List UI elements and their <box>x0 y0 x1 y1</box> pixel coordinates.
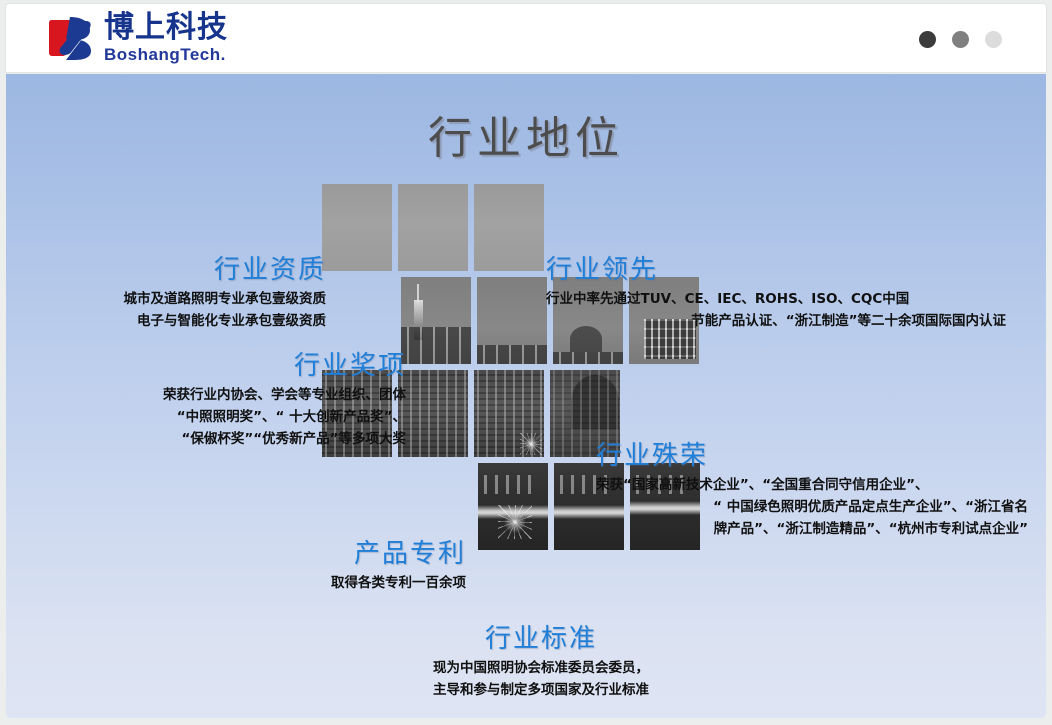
block-heading-patent: 产品专利 <box>136 540 466 570</box>
block-product-patent: 产品专利 取得各类专利一百余项 <box>136 540 466 595</box>
block-body-patent: 取得各类专利一百余项 <box>136 573 466 595</box>
photo-tile-highrise <box>398 370 468 457</box>
dot-medium-icon[interactable] <box>952 31 969 48</box>
photo-tile-highrise <box>474 370 544 457</box>
block-industry-standard: 行业标准 现为中国照明协会标准委员会委员， 主导和参与制定多项国家及行业标准 <box>366 625 716 702</box>
body-line: “保俶杯奖”“优秀新产品”等多项大奖 <box>76 429 406 451</box>
lit-signage <box>484 475 536 494</box>
company-logo[interactable]: 博上科技 BoshangTech. <box>46 13 228 63</box>
block-heading-awards: 行业奖项 <box>76 352 406 382</box>
block-heading-qualification: 行业资质 <box>26 256 326 286</box>
body-line: 现为中国照明协会标准委员会委员， <box>366 658 716 680</box>
block-industry-qualification: 行业资质 城市及道路照明专业承包壹级资质 电子与智能化专业承包壹级资质 <box>26 256 326 333</box>
boshang-b-mark-icon <box>46 15 98 61</box>
body-line: 主导和参与制定多项国家及行业标准 <box>366 680 716 702</box>
body-line: “中照照明奖”、“ 十大创新产品奖”、 <box>76 407 406 429</box>
body-line: 荣获“国家高新技术企业”、“全国重合同守信用企业”、 <box>596 475 1028 497</box>
block-body-standard: 现为中国照明协会标准委员会委员， 主导和参与制定多项国家及行业标准 <box>366 658 716 702</box>
photo-tile-skyline <box>477 277 547 364</box>
photo-tile-sky <box>398 184 468 271</box>
photo-tile-night-street-burst <box>478 463 548 550</box>
photo-tile-skyline-tower <box>401 277 471 364</box>
logo-english-name: BoshangTech. <box>104 46 228 63</box>
block-body-qualification: 城市及道路照明专业承包壹级资质 电子与智能化专业承包壹级资质 <box>26 289 326 333</box>
body-line: 取得各类专利一百余项 <box>136 573 466 595</box>
window-control-dots <box>919 31 1002 48</box>
dot-light-icon[interactable] <box>985 31 1002 48</box>
body-line: 节能产品认证、“浙江制造”等二十余项国际国内认证 <box>546 311 1006 333</box>
slide-header-bar: 博上科技 BoshangTech. <box>6 4 1046 72</box>
lower-buildings <box>477 345 547 364</box>
building-windows <box>398 370 468 457</box>
block-body-awards: 荣获行业内协会、学会等专业组织、团体 “中照照明奖”、“ 十大创新产品奖”、 “… <box>76 385 406 451</box>
block-heading-honors: 行业殊荣 <box>596 442 1028 472</box>
body-line: 牌产品”、“浙江制造精品”、“杭州市专利试点企业” <box>596 519 1028 541</box>
photo-tile-sky <box>474 184 544 271</box>
logo-chinese-name: 博上科技 <box>104 13 228 44</box>
block-heading-leading: 行业领先 <box>546 256 1006 286</box>
block-body-honors: 荣获“国家高新技术企业”、“全国重合同守信用企业”、 “ 中国绿色照明优质产品定… <box>596 475 1028 541</box>
block-industry-honors: 行业殊荣 荣获“国家高新技术企业”、“全国重合同守信用企业”、 “ 中国绿色照明… <box>596 442 1028 540</box>
block-heading-standard: 行业标准 <box>366 625 716 655</box>
lower-buildings <box>553 352 623 364</box>
photo-tile-sky <box>322 184 392 271</box>
mosaic-row-1 <box>322 184 544 271</box>
dot-dark-icon[interactable] <box>919 31 936 48</box>
light-starburst <box>498 505 532 539</box>
block-body-leading: 行业中率先通过TUV、CE、IEC、ROHS、ISO、CQC中国 节能产品认证、… <box>546 289 1006 333</box>
lower-buildings <box>401 327 471 364</box>
logo-wordmark: 博上科技 BoshangTech. <box>104 13 228 63</box>
body-line: 行业中率先通过TUV、CE、IEC、ROHS、ISO、CQC中国 <box>546 289 1006 311</box>
body-line: 荣获行业内协会、学会等专业组织、团体 <box>76 385 406 407</box>
presentation-slide: 博上科技 BoshangTech. 行业地位 <box>0 0 1052 725</box>
block-industry-awards: 行业奖项 荣获行业内协会、学会等专业组织、团体 “中照照明奖”、“ 十大创新产品… <box>76 352 406 450</box>
block-industry-leading: 行业领先 行业中率先通过TUV、CE、IEC、ROHS、ISO、CQC中国 节能… <box>546 256 1006 333</box>
page-title: 行业地位 <box>6 102 1046 166</box>
body-line: 城市及道路照明专业承包壹级资质 <box>26 289 326 311</box>
body-line: “ 中国绿色照明优质产品定点生产企业”、“浙江省名 <box>596 497 1028 519</box>
light-starburst <box>520 433 542 455</box>
slide-content-area: 行业地位 <box>6 74 1046 718</box>
body-line: 电子与智能化专业承包壹级资质 <box>26 311 326 333</box>
